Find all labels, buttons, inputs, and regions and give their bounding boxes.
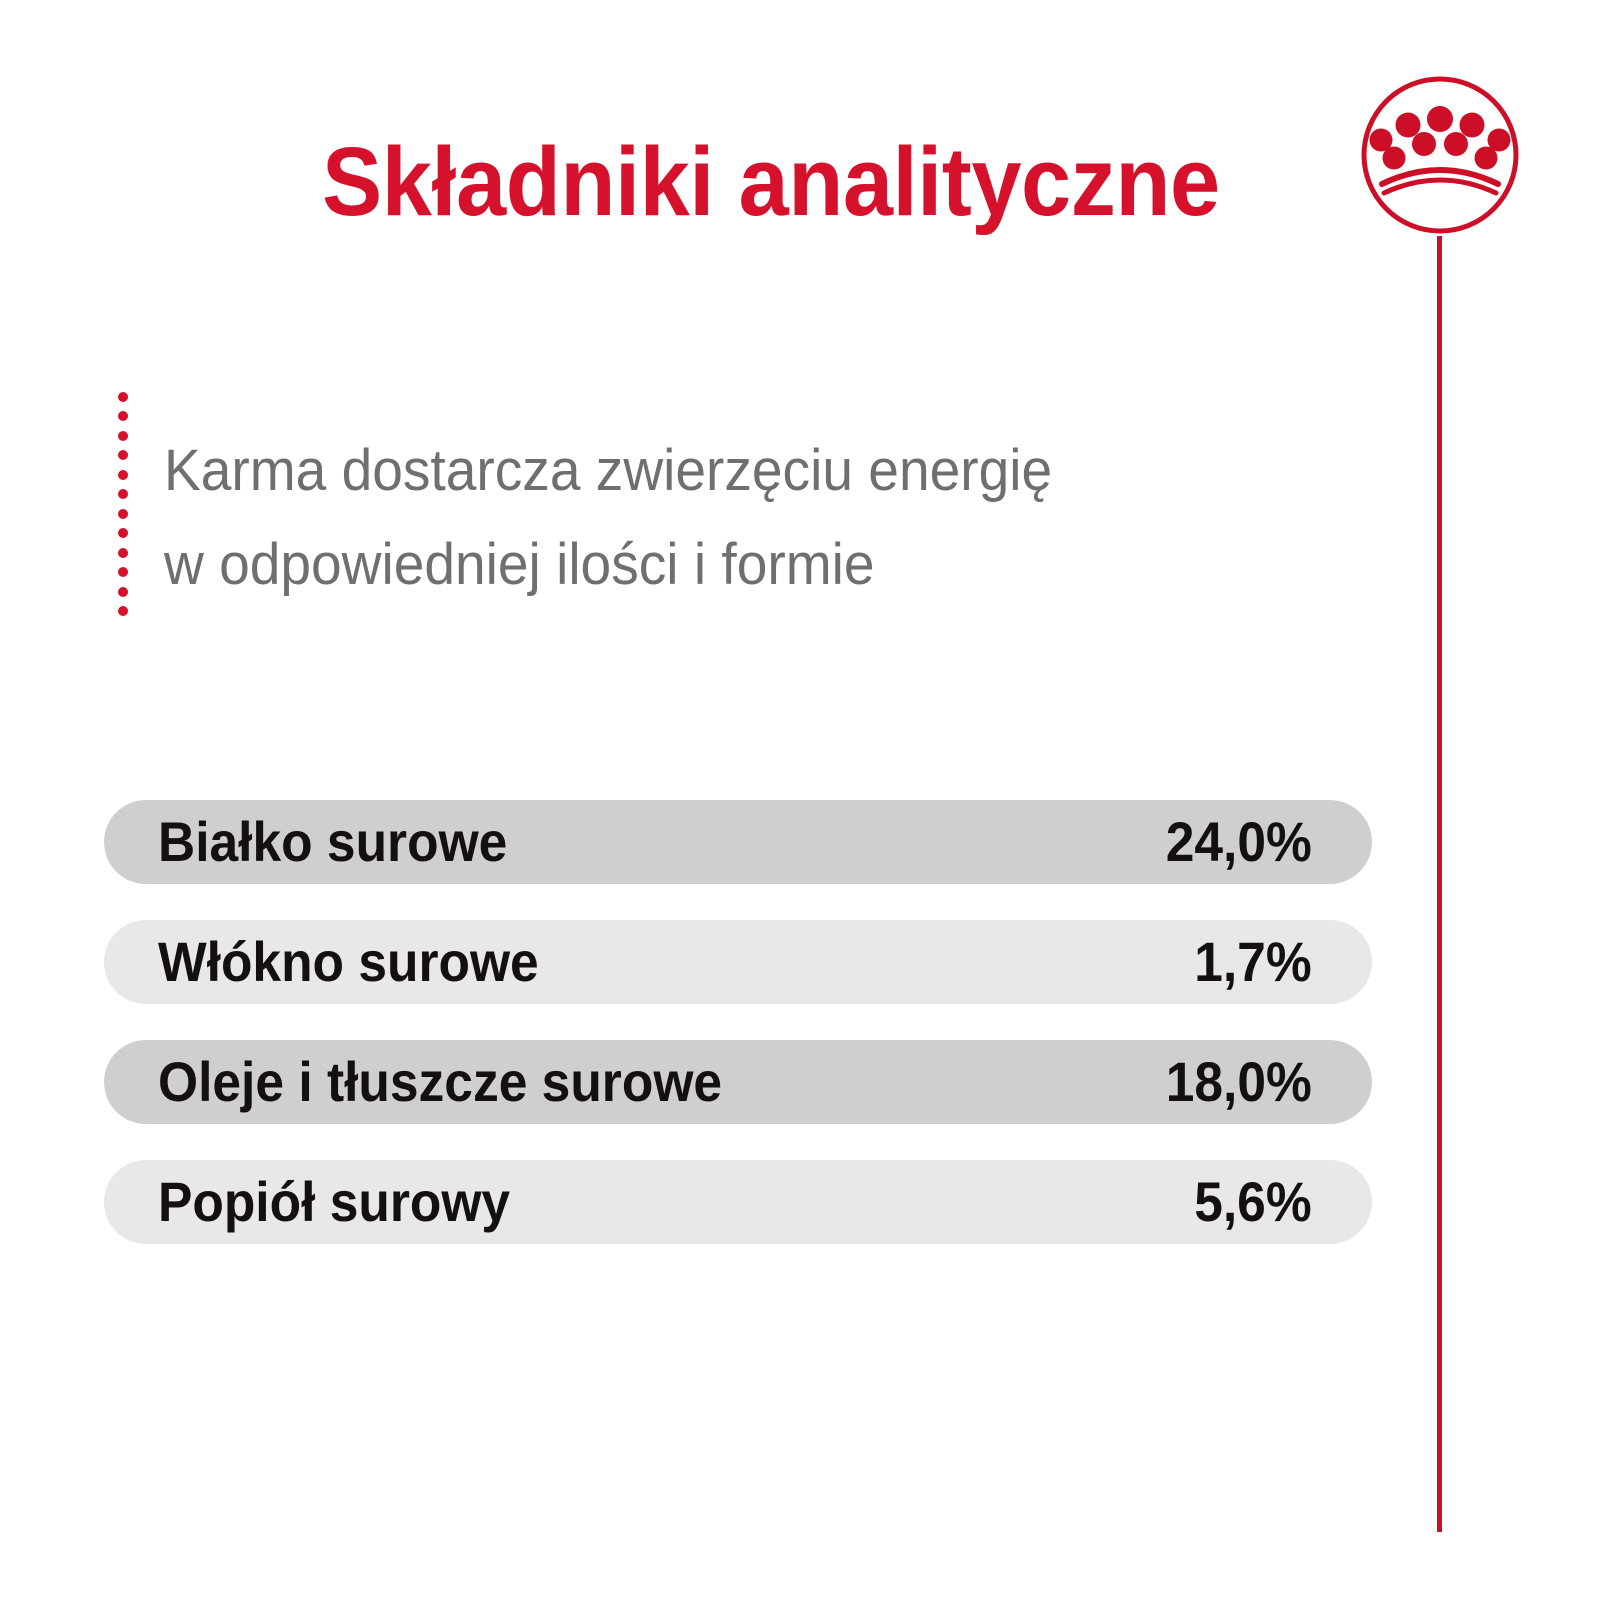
intro-text: Karma dostarcza zwierzęciu energię w odp…: [164, 424, 1209, 612]
rail-dot: [118, 470, 128, 480]
nutrient-row: Popiół surowy 5,6%: [104, 1160, 1372, 1244]
rail-dot: [118, 392, 128, 402]
brand-stem-line: [1437, 236, 1442, 1532]
dotted-accent-rail: [117, 392, 129, 616]
rail-dot: [118, 411, 128, 421]
nutrient-label: Oleje i tłuszcze surowe: [158, 1054, 722, 1110]
rail-dot: [118, 548, 128, 558]
royal-canin-crown-logo: [1358, 72, 1526, 244]
rail-dot: [118, 567, 128, 577]
nutrient-row: Białko surowe 24,0%: [104, 800, 1372, 884]
intro-line-1: Karma dostarcza zwierzęciu energię: [164, 424, 1209, 518]
rail-dot: [118, 587, 128, 597]
nutrient-label: Popiół surowy: [158, 1174, 510, 1230]
rail-dot: [118, 431, 128, 441]
analytical-constituents-list: Białko surowe 24,0% Włókno surowe 1,7% O…: [104, 800, 1372, 1244]
rail-dot: [118, 489, 128, 499]
rail-dot: [118, 528, 128, 538]
nutrient-label: Włókno surowe: [158, 934, 539, 990]
nutrient-value: 1,7%: [1195, 934, 1312, 990]
nutrient-row: Oleje i tłuszcze surowe 18,0%: [104, 1040, 1372, 1124]
analytical-constituents-panel: Składniki analityczne: [0, 0, 1600, 1600]
page-title: Składniki analityczne: [322, 128, 1220, 236]
nutrient-label: Białko surowe: [158, 814, 507, 870]
nutrient-row: Włókno surowe 1,7%: [104, 920, 1372, 1004]
intro-line-2: w odpowiedniej ilości i formie: [164, 518, 1209, 612]
nutrient-value: 24,0%: [1166, 814, 1312, 870]
nutrient-value: 18,0%: [1166, 1054, 1312, 1110]
nutrient-value: 5,6%: [1195, 1174, 1312, 1230]
rail-dot: [118, 450, 128, 460]
rail-dot: [118, 509, 128, 519]
rail-dot: [118, 606, 128, 616]
